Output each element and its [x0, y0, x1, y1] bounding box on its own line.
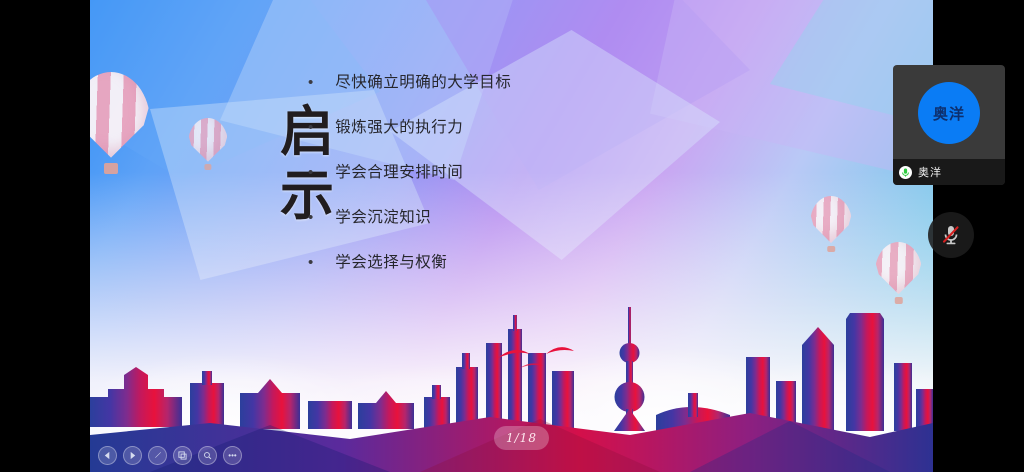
- list-item: • 学会沉淀知识: [308, 207, 748, 229]
- bullet-text: 学会沉淀知识: [335, 207, 431, 229]
- hot-air-balloon-icon: [875, 242, 922, 304]
- bullet-text: 尽快确立明确的大学目标: [335, 72, 511, 94]
- list-item: • 学会合理安排时间: [308, 162, 748, 184]
- hot-air-balloon-icon: [188, 118, 228, 170]
- avatar: 奥洋: [918, 82, 980, 144]
- magnifier-icon: [203, 451, 212, 460]
- mute-toggle-button[interactable]: [928, 212, 974, 258]
- list-item: • 学会选择与权衡: [308, 252, 748, 274]
- participant-video-tile[interactable]: 奥洋 奥洋: [893, 65, 1005, 185]
- page-indicator: 1/18: [494, 426, 549, 450]
- hot-air-balloon-icon: [810, 196, 852, 252]
- list-item: • 尽快确立明确的大学目标: [308, 72, 748, 94]
- bullet-text: 学会合理安排时间: [335, 162, 463, 184]
- microphone-icon: [899, 166, 912, 179]
- ellipsis-icon: •••: [228, 452, 236, 460]
- screenshot-button[interactable]: [173, 446, 192, 465]
- more-button[interactable]: •••: [223, 446, 242, 465]
- zoom-button[interactable]: [198, 446, 217, 465]
- bullet-marker: •: [308, 117, 313, 139]
- annotate-button[interactable]: [148, 446, 167, 465]
- bullet-marker: •: [308, 207, 313, 229]
- next-slide-button[interactable]: [123, 446, 142, 465]
- hot-air-balloon-icon: [90, 72, 150, 174]
- slide-player-toolbar[interactable]: •••: [98, 446, 242, 465]
- birds-icon: [490, 338, 600, 372]
- triangle-right-icon: [128, 451, 137, 460]
- list-item: • 锻炼强大的执行力: [308, 117, 748, 139]
- participant-name-bar: 奥洋: [893, 159, 1005, 185]
- bullet-marker: •: [308, 252, 313, 274]
- previous-slide-button[interactable]: [98, 446, 117, 465]
- slide-bullet-list: • 尽快确立明确的大学目标 • 锻炼强大的执行力 • 学会合理安排时间 • 学会…: [308, 72, 748, 297]
- microphone-muted-icon: [939, 223, 963, 247]
- bullet-marker: •: [308, 72, 313, 94]
- bullet-marker: •: [308, 162, 313, 184]
- bullet-text: 学会选择与权衡: [335, 252, 447, 274]
- participant-name: 奥洋: [918, 164, 942, 180]
- presentation-slide[interactable]: 启 示 • 尽快确立明确的大学目标 • 锻炼强大的执行力 • 学会合理安排时间 …: [90, 0, 933, 472]
- screen-root: 启 示 • 尽快确立明确的大学目标 • 锻炼强大的执行力 • 学会合理安排时间 …: [0, 0, 1024, 472]
- copy-icon: [178, 451, 187, 460]
- bullet-text: 锻炼强大的执行力: [335, 117, 463, 139]
- triangle-left-icon: [103, 451, 112, 460]
- pen-icon: [153, 451, 162, 460]
